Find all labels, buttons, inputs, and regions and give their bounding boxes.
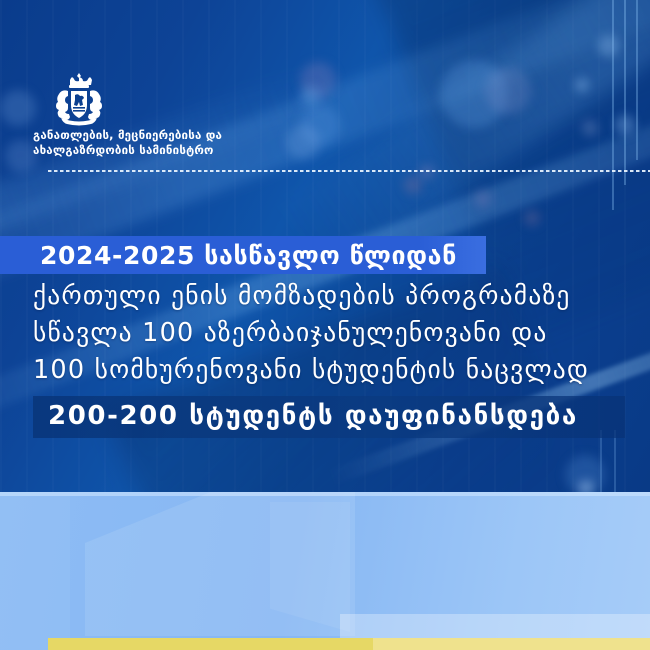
- dashed-separator: [48, 170, 650, 172]
- bokeh-circle: [404, 176, 422, 194]
- background-rule-line: [636, 0, 638, 160]
- bokeh-circle: [300, 86, 320, 106]
- bokeh-circle: [485, 68, 531, 114]
- bottom-light-panel: [0, 492, 650, 650]
- decorative-polygon: [270, 502, 350, 632]
- ministry-name: განათლების, მეცნიერებისა და ახალგაზრდობი…: [33, 128, 333, 157]
- bokeh-circle: [582, 120, 598, 136]
- body-line-1: ქართული ენის მომზადების პროგრამაზე: [33, 281, 571, 311]
- background-rule-line: [624, 0, 626, 185]
- emphasis-text: 200-200 სტუდენტს დაუფინანსდება: [48, 401, 578, 431]
- headline-highlight-bar: 2024-2025 სასწავლო წლიდან: [0, 236, 486, 274]
- bokeh-circle: [0, 90, 36, 126]
- bokeh-circle: [524, 210, 540, 226]
- ministry-name-line-2: ახალგაზრდობის სამინისტრო: [33, 143, 333, 158]
- bokeh-circle: [575, 78, 589, 92]
- decorative-polygon: [85, 492, 355, 636]
- panel-top-edge-highlight: [0, 492, 650, 496]
- bokeh-circle: [578, 480, 594, 492]
- ministry-name-line-1: განათლების, მეცნიერებისა და: [33, 128, 333, 143]
- background-rule-line: [614, 430, 616, 492]
- poster-canvas: განათლების, მეცნიერებისა და ახალგაზრდობი…: [0, 0, 650, 650]
- georgia-coat-of-arms-icon: [48, 72, 110, 128]
- bokeh-circle: [420, 165, 434, 179]
- background-rule-line: [612, 0, 614, 210]
- top-blue-panel: განათლების, მეცნიერებისა და ახალგაზრდობი…: [0, 0, 650, 492]
- bokeh-circle: [615, 115, 635, 135]
- yellow-accent-bar: [48, 638, 650, 650]
- headline-text: 2024-2025 სასწავლო წლიდან: [40, 241, 457, 270]
- panel-left-shade: [0, 492, 70, 650]
- body-line-2: სწავლა 100 აზერბაიჯანულენოვანი და: [33, 318, 548, 348]
- body-line-3: 100 სომხურენოვანი სტუდენტის ნაცვლად: [33, 355, 589, 385]
- bokeh-circle: [474, 190, 492, 208]
